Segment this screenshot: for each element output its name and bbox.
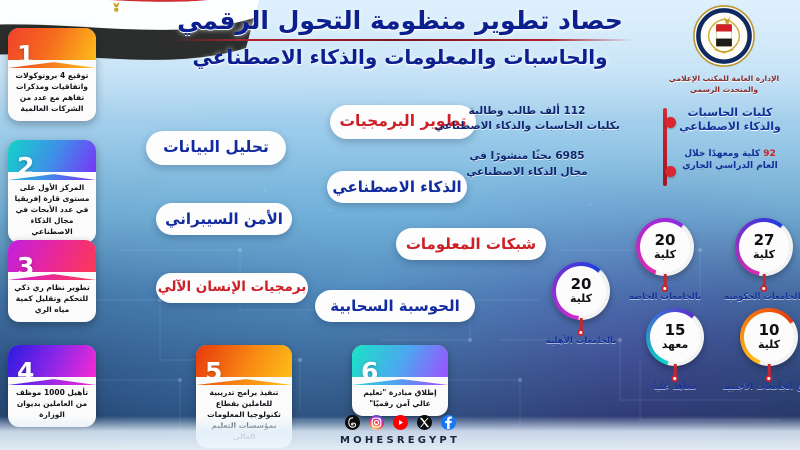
students-stat-line-1: 112 ألف طالب وطالبة (402, 104, 652, 119)
badge-ring: 15 معهد (646, 308, 704, 366)
achievement-card-2[interactable]: 2 المركز الأول على مستوى قارة إفريقيا في… (8, 140, 96, 243)
badge-inner: 20 كلية (640, 222, 690, 272)
badge-government-universities[interactable]: 27 كلية بالجامعات الحكومية (735, 218, 793, 276)
badge-number: 27 (754, 233, 775, 249)
emblem-caption-line-1: الإدارة العامة للمكتب الإعلامي (656, 74, 792, 85)
stats-section-heading: كليات الحاسبات والذكاء الاصطناعي 92 كلية… (670, 106, 790, 172)
social-links (0, 415, 800, 430)
card-text: توقيع 4 بروتوكولات واتفاقيات ومذكرات تفا… (8, 68, 96, 121)
title-line-2: والحاسبات والمعلومات والذكاء الاصطناعي (140, 45, 660, 69)
facebook-icon[interactable] (441, 415, 456, 430)
badge-stem (763, 274, 766, 287)
badge-number: 20 (571, 277, 592, 293)
research-stat-line-2: مجال الذكاء الاصطناعي (402, 165, 652, 180)
badge-inner: 10 كلية (744, 312, 794, 362)
stats-subtitle-line-1: كلية ومعهدًا خلال (684, 149, 760, 159)
emblem-caption-line-2: والمتحدث الرسمي (656, 85, 792, 96)
topic-pill-robotics-software[interactable]: برمجيات الإنسان الآلي (156, 273, 308, 303)
topic-pill-information-networks[interactable]: شبكات المعلومات (396, 228, 546, 260)
badge-foreign-university-branches[interactable]: 10 كلية أفرع الجامعات الأجنبية (740, 308, 798, 366)
card-text: إطلاق مبادرة "تعليم عالي آمن رقميًا" (352, 385, 448, 416)
badge-unit: معهد (662, 339, 689, 351)
badge-stem (580, 318, 583, 331)
topic-pill-data-analysis[interactable]: تحليل البيانات (146, 131, 286, 165)
topic-pill-cloud-computing[interactable]: الحوسبة السحابية (315, 290, 475, 322)
research-stat-line-1: 6985 بحثًا منشورًا في (402, 149, 652, 164)
rail-dot-research (665, 166, 676, 177)
page-title: حصاد تطوير منظومة التحول الرقمي والحاسبا… (140, 6, 660, 69)
badge-inner: 27 كلية (739, 222, 789, 272)
badge-number: 20 (655, 233, 676, 249)
title-divider (166, 39, 634, 41)
badge-inner: 15 معهد (650, 312, 700, 362)
badge-ring: 20 كلية (552, 262, 610, 320)
badge-unit: كلية (753, 249, 775, 261)
egypt-eagle-emblem-icon (692, 4, 756, 68)
stats-highlights: 112 ألف طالب وطالبة بكليات الحاسبات والذ… (402, 104, 652, 180)
badge-number: 15 (665, 323, 686, 339)
stats-spacer (402, 134, 652, 149)
badge-caption: بالجامعات الخاصة (609, 292, 721, 303)
badge-stem (768, 364, 771, 377)
badge-private-universities[interactable]: 20 كلية بالجامعات الخاصة (636, 218, 694, 276)
badge-inner: 20 كلية (556, 266, 606, 316)
title-line-1: حصاد تطوير منظومة التحول الرقمي (140, 6, 660, 36)
instagram-icon[interactable] (369, 415, 384, 430)
badge-ring: 10 كلية (740, 308, 798, 366)
topic-pill-cybersecurity[interactable]: الأمن السيبراني (156, 203, 292, 235)
emblem-caption: الإدارة العامة للمكتب الإعلامي والمتحدث … (656, 74, 792, 96)
badge-unit: كلية (758, 339, 780, 351)
students-stat-line-2: بكليات الحاسبات والذكاء الاصطناعي (402, 119, 652, 134)
achievement-card-6[interactable]: 6 إطلاق مبادرة "تعليم عالي آمن رقميًا" (352, 345, 448, 416)
stats-subtitle-line-2: العام الدراسي الجاري (670, 160, 790, 172)
badge-national-universities[interactable]: 20 كلية بالجامعات الأهلية (552, 262, 610, 320)
x-twitter-icon[interactable] (417, 415, 432, 430)
stats-title-line-1: كليات الحاسبات (670, 106, 790, 120)
badge-unit: كلية (654, 249, 676, 261)
youtube-icon[interactable] (393, 415, 408, 430)
card-text: تطوير نظام ري ذكي للتحكم وتقليل كمية ميا… (8, 280, 96, 322)
badge-ring: 20 كلية (636, 218, 694, 276)
social-handle: MOHESREGYPT (0, 435, 800, 446)
rail-dot-students (665, 117, 676, 128)
infographic-canvas: حصاد تطوير منظومة التحول الرقمي والحاسبا… (0, 0, 800, 450)
badge-unit: كلية (570, 293, 592, 305)
achievement-card-1[interactable]: 1 توقيع 4 بروتوكولات واتفاقيات ومذكرات ت… (8, 28, 96, 121)
badge-stem (664, 274, 667, 287)
badge-stem (674, 364, 677, 377)
badge-higher-institutes[interactable]: 15 معهد معاهد عليا (646, 308, 704, 366)
badge-number: 10 (759, 323, 780, 339)
badge-caption: بالجامعات الحكومية (708, 292, 800, 303)
stats-subtitle-count: 92 (763, 149, 776, 159)
achievement-card-3[interactable]: 3 تطوير نظام ري ذكي للتحكم وتقليل كمية م… (8, 240, 96, 322)
threads-icon[interactable] (345, 415, 360, 430)
badge-caption: بالجامعات الأهلية (525, 336, 637, 347)
stats-subtitle: 92 كلية ومعهدًا خلال العام الدراسي الجار… (670, 148, 790, 172)
stats-title-line-2: والذكاء الاصطناعي (670, 120, 790, 134)
badge-ring: 27 كلية (735, 218, 793, 276)
badge-caption: أفرع الجامعات الأجنبية (713, 382, 800, 393)
ministry-emblem-block: الإدارة العامة للمكتب الإعلامي والمتحدث … (656, 4, 792, 96)
card-text: المركز الأول على مستوى قارة إفريقيا في ع… (8, 180, 96, 243)
